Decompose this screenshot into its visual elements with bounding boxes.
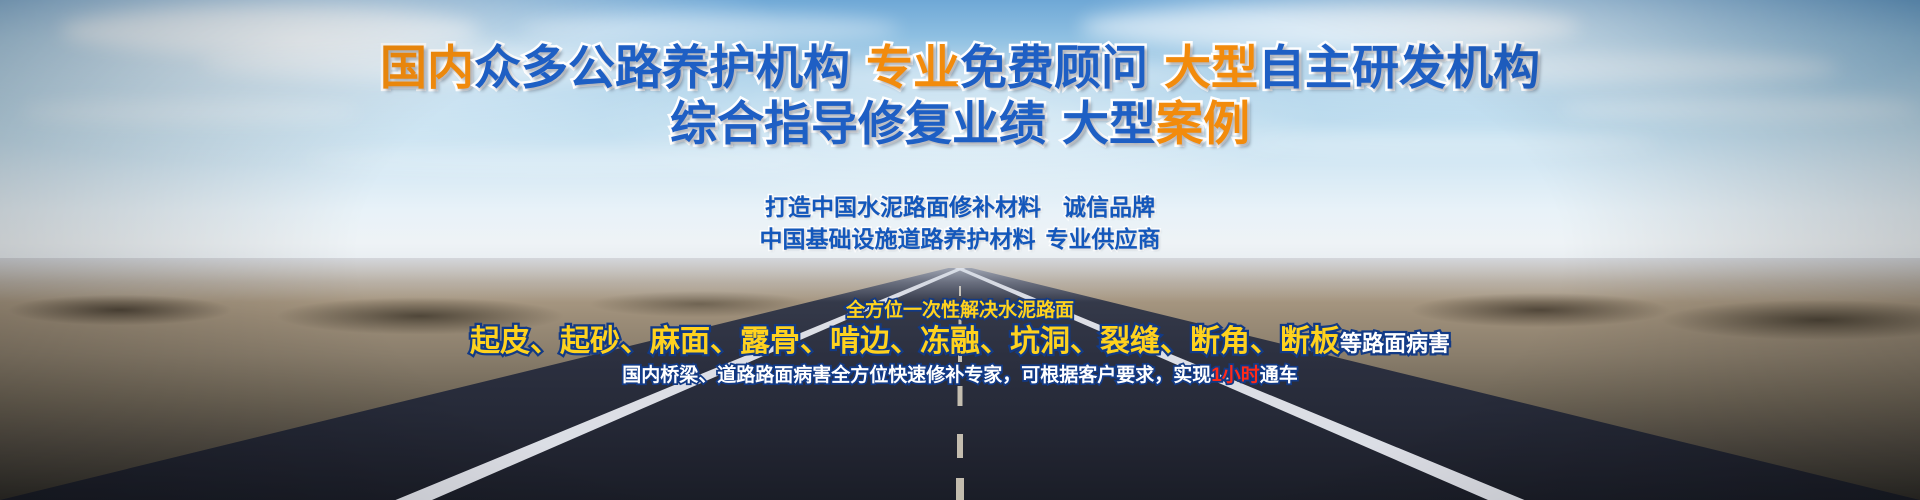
headline-1-segment-5: 大型: [1164, 41, 1258, 94]
banner-text-content: 国内众多公路养护机构专业免费顾问大型自主研发机构 综合指导修复业绩大型案例 打造…: [0, 0, 1920, 500]
bottom-subtext-part-2: 通车: [1260, 365, 1298, 386]
subheadline-line-2: 中国基础设施道路养护材料专业供应商: [0, 224, 1920, 254]
subheadline-1-part-1: 打造中国水泥路面修补材料: [765, 194, 1041, 220]
bottom-subtext-part-1: 国内桥梁、道路路面病害全方位快速修补专家，可根据客户要求，实现: [622, 365, 1211, 386]
subheadline-2-part-2: 专业供应商: [1046, 226, 1161, 252]
subheadline-2-part-1: 中国基础设施道路养护材料: [760, 226, 1036, 252]
headline-line-2: 综合指导修复业绩大型案例: [0, 100, 1920, 147]
headline-1-segment-3: 专业: [866, 41, 960, 94]
defects-list: 起皮、起砂、麻面、露骨、啃边、冻融、坑洞、裂缝、断角、断板: [470, 325, 1340, 358]
headline-1-segment-1: 国内: [380, 41, 474, 94]
headline-2-segment-1: 综合指导修复业绩: [670, 97, 1046, 150]
defects-tail-label: 等路面病害: [1340, 331, 1450, 356]
headline-1-segment-4: 免费顾问: [960, 41, 1148, 94]
headline-2-segment-3: 案例: [1156, 97, 1250, 150]
headline-2-segment-2: 大型: [1062, 97, 1156, 150]
bottom-subtext-line: 国内桥梁、道路路面病害全方位快速修补专家，可根据客户要求，实现1小时通车: [0, 360, 1920, 387]
promo-banner: 国内众多公路养护机构专业免费顾问大型自主研发机构 综合指导修复业绩大型案例 打造…: [0, 0, 1920, 500]
subheadline-line-1: 打造中国水泥路面修补材料诚信品牌: [0, 192, 1920, 222]
headline-1-segment-6: 自主研发机构: [1258, 41, 1540, 94]
bottom-subtext-highlight: 1小时: [1211, 365, 1260, 386]
headline-1-segment-2: 众多公路养护机构: [474, 41, 850, 94]
headline-line-1: 国内众多公路养护机构专业免费顾问大型自主研发机构: [0, 44, 1920, 91]
subheadline-1-part-2: 诚信品牌: [1063, 194, 1155, 220]
bottom-defects-line: 起皮、起砂、麻面、露骨、啃边、冻融、坑洞、裂缝、断角、断板等路面病害: [0, 316, 1920, 360]
